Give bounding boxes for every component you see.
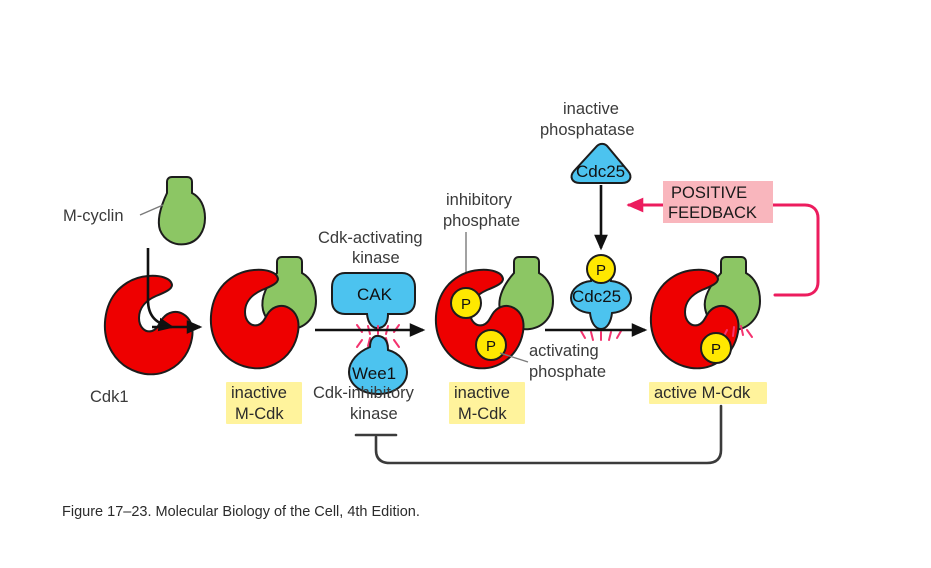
figure-container: Cdk1 M-cyclin inactive M-Cdk Cdk-activat…	[0, 0, 931, 568]
inactive-m-cdk-2-label-line1: inactive	[454, 384, 510, 402]
cdk-activating-kinase-label-line2: kinase	[352, 249, 400, 267]
phosphate-group-icon: P	[451, 288, 481, 318]
phosphate-glyph: P	[461, 296, 471, 313]
cdc25-active-shape-text: Cdc25	[572, 287, 621, 306]
positive-feedback-label-line1: POSITIVE	[671, 184, 747, 202]
activating-phosphate-label-line2: phosphate	[529, 363, 606, 381]
phosphate-glyph: P	[486, 338, 496, 355]
inactive-m-cdk-label-line2: M-Cdk	[235, 405, 284, 423]
m-cyclin-protein-icon	[159, 177, 205, 244]
phosphate-glyph: P	[711, 341, 721, 358]
cdc25-column: inactive phosphatase Cdc25 P Cdc25	[540, 100, 645, 340]
positive-feedback-label-line2: FEEDBACK	[668, 204, 757, 222]
cdc25-phosphatase-icon: Cdc25	[572, 144, 631, 183]
cdc25-inactive-shape-text: Cdc25	[576, 162, 625, 181]
m-cdk-activation-diagram: Cdk1 M-cyclin inactive M-Cdk Cdk-activat…	[0, 0, 931, 568]
phosphate-group-icon: P	[476, 330, 506, 360]
inhibition-loop-line	[376, 406, 721, 463]
wee1-shape-text: Wee1	[352, 364, 396, 383]
inactive-m-cdk-2-label-line2: M-Cdk	[458, 405, 507, 423]
m-cyclin-label: M-cyclin	[63, 207, 124, 225]
figure-caption: Figure 17–23. Molecular Biology of the C…	[62, 504, 420, 520]
phosphate-glyph: P	[596, 262, 606, 279]
cak-shape-text: CAK	[357, 285, 393, 304]
inhibitory-phosphate-label-line1: inhibitory	[446, 191, 513, 209]
stage-active-m-cdk: P active M-Cdk	[649, 257, 767, 404]
free-m-cyclin-group: M-cyclin	[63, 177, 205, 244]
inactive-phosphatase-label-line2: phosphatase	[540, 121, 635, 139]
inhibitory-phosphate-label-line2: phosphate	[443, 212, 520, 230]
active-m-cdk-label: active M-Cdk	[654, 384, 751, 402]
cak-wee1-step: Cdk-activating kinase CAK	[313, 229, 423, 423]
stage-inactive-m-cdk-1: inactive M-Cdk	[211, 257, 316, 424]
cak-kinase-icon: CAK	[332, 273, 415, 328]
cdk-activating-kinase-label-line1: Cdk-activating	[318, 229, 423, 247]
cdk-inhibitory-kinase-label-line1: Cdk-inhibitory	[313, 384, 415, 402]
phosphate-group-icon: P	[701, 333, 731, 363]
activating-phosphate-label-line1: activating	[529, 342, 599, 360]
cdc25-phosphatase-icon: P Cdc25	[571, 255, 631, 329]
inhibition-feedback-loop	[356, 406, 721, 463]
stage-cdk1: Cdk1	[90, 276, 193, 406]
cdk-inhibitory-kinase-label-line2: kinase	[350, 405, 398, 423]
cdk1-label: Cdk1	[90, 388, 129, 406]
inactive-phosphatase-label-line1: inactive	[563, 100, 619, 118]
activity-starburst-icon	[581, 331, 621, 340]
inactive-m-cdk-label-line1: inactive	[231, 384, 287, 402]
